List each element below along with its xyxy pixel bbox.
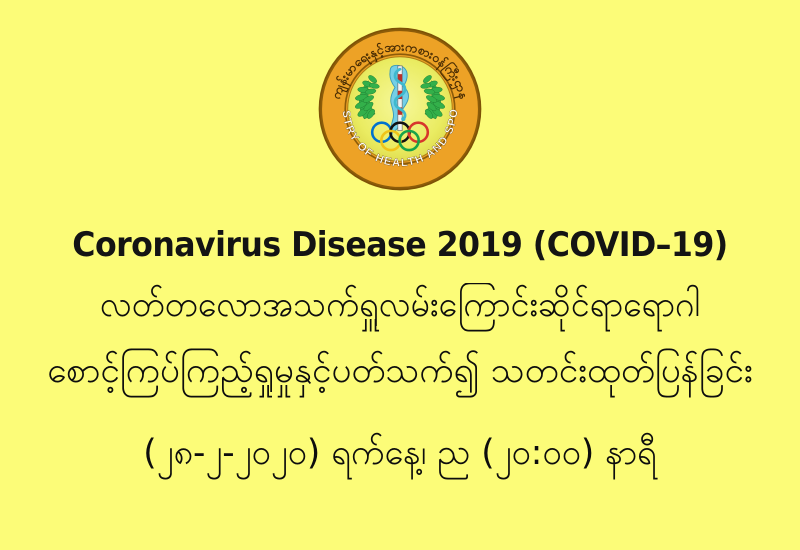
headline-english: Coronavirus Disease 2019 (COVID–19) xyxy=(28,228,772,262)
datetime-burmese-line: (၂၈-၂-၂၀၂၀) ရက်နေ့၊ ည (၂၀:၀၀) နာရီ xyxy=(8,436,792,471)
headline-burmese-line-2: စောင့်ကြပ်ကြည့်ရှုမှုနှင့်ပတ်သက်၍ သတင်းထ… xyxy=(0,354,800,389)
ministry-of-health-and-sports-seal-icon: ကျန်းမာရေးနှင့်အားကစားဝန်ကြီးဌာန MINISTR… xyxy=(317,26,483,192)
headline-burmese-line-1: လတ်တလောအသက်ရှူလမ်းကြောင်းဆိုင်ရာရောဂါ xyxy=(12,288,788,323)
covid-press-release-poster: ကျန်းမာရေးနှင့်အားကစားဝန်ကြီးဌာန MINISTR… xyxy=(0,0,800,550)
ministry-logo-container: ကျန်းမာရေးနှင့်အားကစားဝန်ကြီးဌာန MINISTR… xyxy=(0,26,800,194)
announcement-text-block: Coronavirus Disease 2019 (COVID–19) လတ်တ… xyxy=(0,196,800,550)
